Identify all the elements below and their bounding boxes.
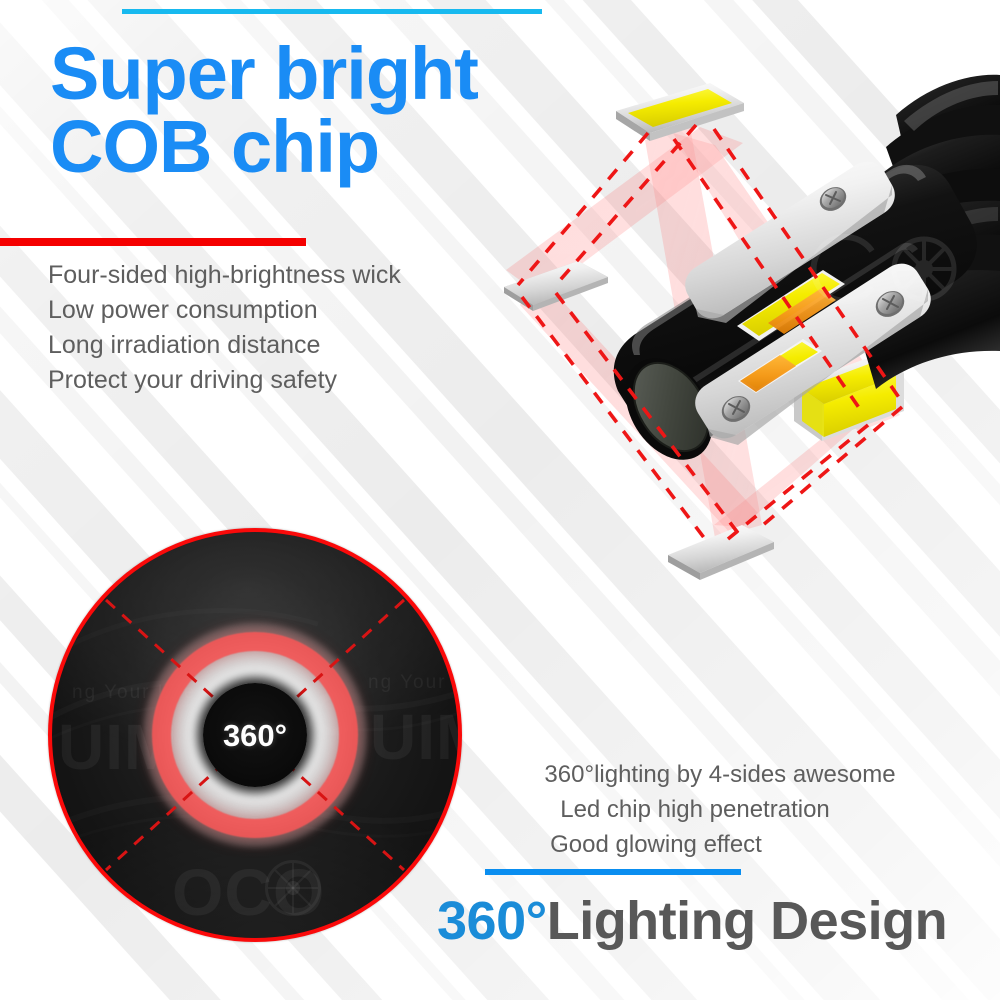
footer-feature-item: 360°lighting by 4-sides awesome — [440, 757, 940, 792]
footer-accent-rule — [485, 869, 741, 875]
feature-item: Long irradiation distance — [48, 328, 528, 363]
footer-title-accent: 360° — [437, 891, 547, 951]
footer-title: 360°Lighting Design — [437, 889, 947, 953]
poster-canvas: Super bright COB chip Four-sided high-br… — [0, 0, 1000, 1000]
feature-item: Protect your driving safety — [48, 363, 528, 398]
product-illustration — [500, 55, 1000, 595]
headline-red-rule — [0, 238, 306, 246]
footer-feature-item: Good glowing effect — [440, 827, 940, 862]
led-bulb-diagram — [500, 55, 1000, 600]
feature-list: Four-sided high-brightness wick Low powe… — [48, 258, 528, 398]
360-degree-diagram: ng Your Life UIM ng Your Life UIM OCO OC… — [48, 528, 462, 942]
top-accent-rule — [122, 9, 542, 14]
circle-body: ng Your Life UIM ng Your Life UIM OCO OC… — [52, 532, 458, 938]
footer-feature-item: Led chip high penetration — [440, 792, 940, 827]
footer-title-plain: Lighting Design — [547, 891, 947, 951]
circle-core: 360° — [203, 683, 307, 787]
360-label: 360° — [223, 720, 287, 751]
footer-feature-list: 360°lighting by 4-sides awesome Led chip… — [440, 757, 940, 862]
feature-item: Low power consumption — [48, 293, 528, 328]
wheel-logo-icon — [265, 860, 321, 916]
feature-item: Four-sided high-brightness wick — [48, 258, 528, 293]
